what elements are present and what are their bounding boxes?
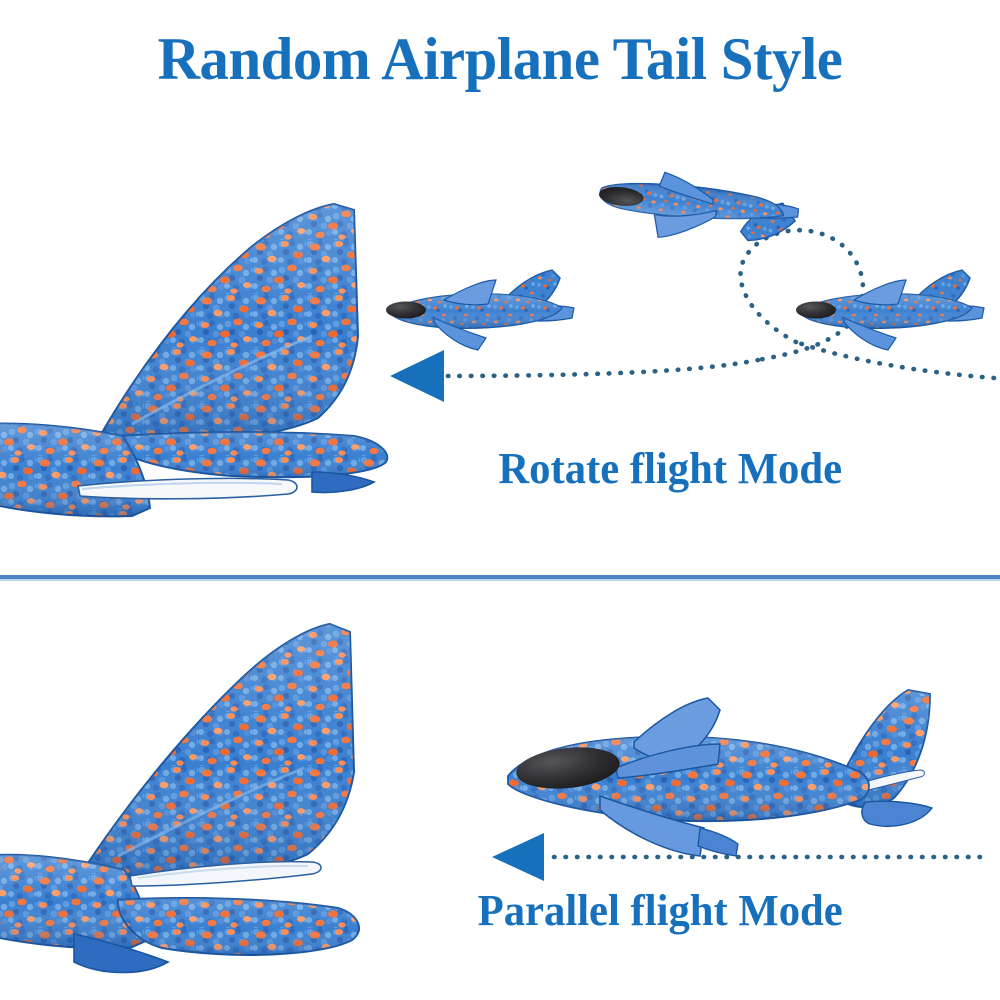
glider-large bbox=[508, 690, 932, 856]
product-infographic: Random Airplane Tail Style bbox=[0, 0, 1000, 1000]
upswept-twin-tail-closeup bbox=[0, 186, 412, 546]
tail-fin-main bbox=[100, 204, 358, 444]
arrow-left-icon bbox=[492, 833, 544, 881]
rotate-flight-path bbox=[378, 160, 1000, 420]
panel-divider-glow bbox=[0, 579, 1000, 581]
downswept-tail-closeup bbox=[0, 604, 412, 994]
glider-left bbox=[386, 270, 574, 350]
arrow-left-icon bbox=[390, 350, 444, 402]
parallel-flight-path bbox=[468, 660, 988, 890]
parallel-flight-mode-label: Parallel flight Mode bbox=[478, 886, 843, 936]
glider-right bbox=[796, 270, 984, 350]
glider-inverted-top bbox=[595, 166, 801, 252]
lower-tail-tip bbox=[312, 472, 374, 493]
rotate-flight-mode-label: Rotate flight Mode bbox=[498, 444, 842, 494]
downswept-stabilizer bbox=[118, 898, 359, 955]
page-title: Random Airplane Tail Style bbox=[10, 26, 990, 92]
horizontal-stabilizer bbox=[122, 432, 387, 477]
tail-fin-main bbox=[86, 624, 354, 876]
